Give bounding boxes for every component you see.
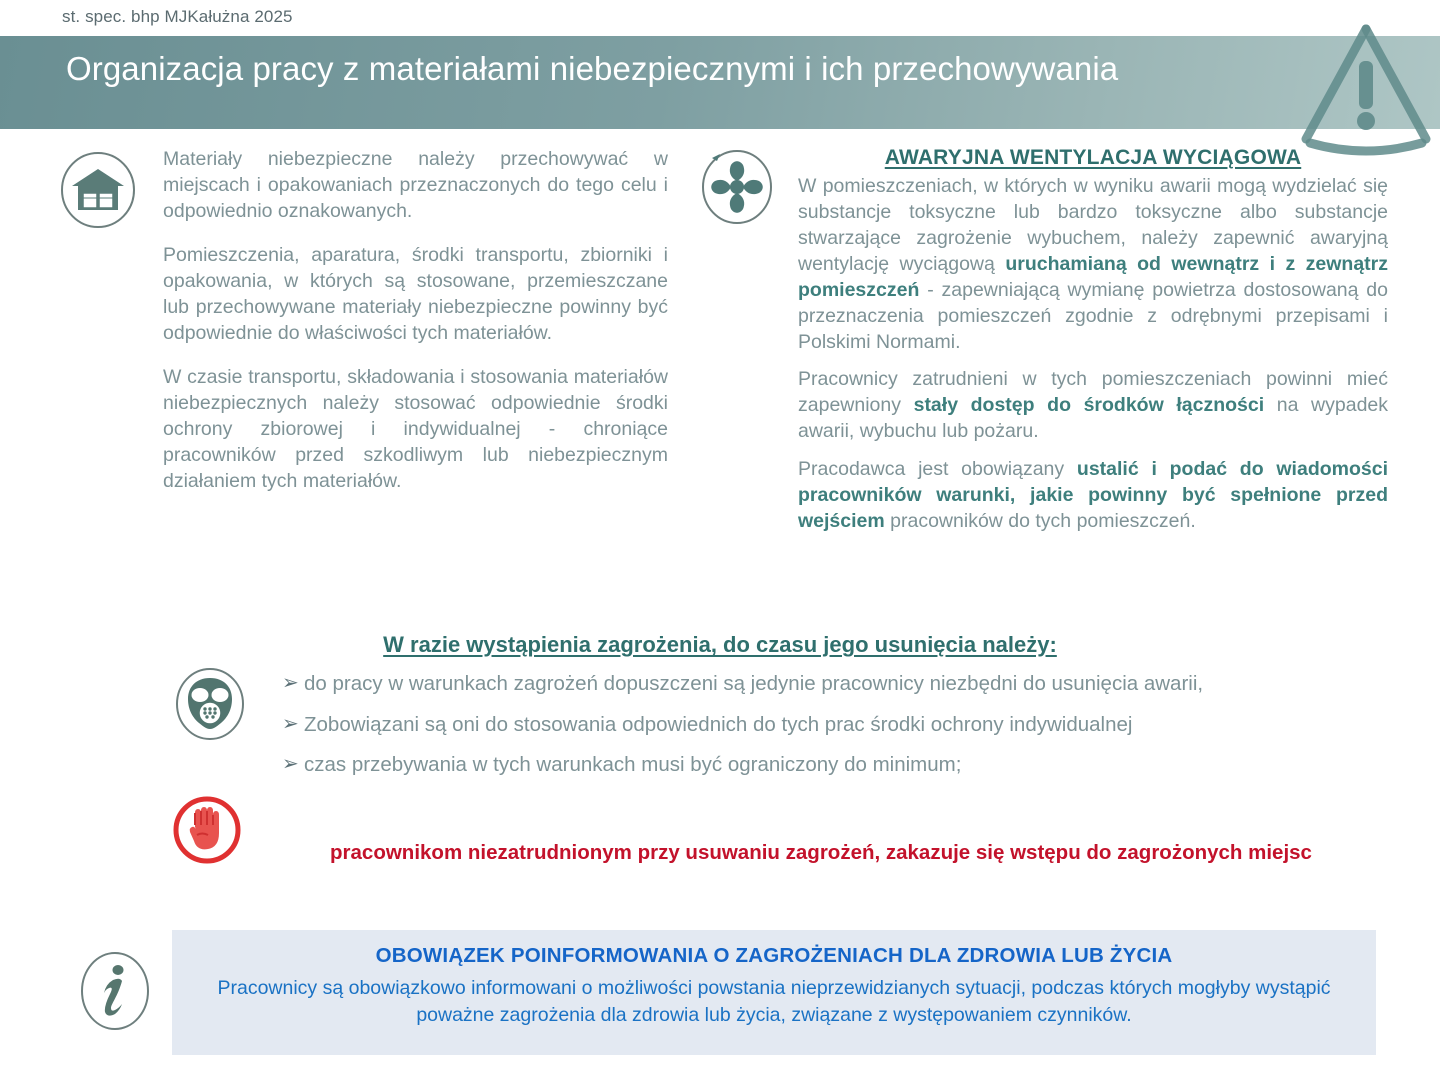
bullet-text-2: Zobowiązani są oni do stosowania odpowie…: [304, 711, 1360, 739]
list-item: ➢ czas przebywania w tych warunkach musi…: [282, 751, 1360, 779]
bullet-text-1: do pracy w warunkach zagrożeń dopuszczen…: [304, 670, 1360, 698]
red-warning-text: pracownikom niezatrudnionym przy usuwani…: [282, 839, 1360, 867]
left-column-body: Materiały niebezpieczne należy przechowy…: [163, 146, 668, 495]
bullet-marker-icon: ➢: [282, 670, 304, 697]
left-paragraph-1: Materiały niebezpieczne należy przechowy…: [163, 146, 668, 225]
stop-hand-icon: [168, 791, 246, 869]
gas-mask-icon: [172, 666, 248, 742]
bullet-list: ➢ do pracy w warunkach zagrożeń dopuszcz…: [282, 670, 1360, 792]
left-column: Materiały niebezpieczne należy przechowy…: [58, 146, 678, 512]
author-line: st. spec. bhp MJKałużna 2025: [62, 7, 293, 27]
list-item: ➢ do pracy w warunkach zagrożeń dopuszcz…: [282, 670, 1360, 698]
page-title: Organizacja pracy z materiałami niebezpi…: [66, 48, 1316, 89]
right-paragraph-3: Pracodawca jest obowiązany ustalić i pod…: [798, 457, 1388, 535]
left-paragraph-3: W czasie transportu, składowania i stoso…: [163, 364, 668, 495]
bullet-marker-icon: ➢: [282, 711, 304, 738]
right-paragraph-1: W pomieszczeniach, w których w wyniku aw…: [798, 174, 1388, 355]
middle-section-heading: W razie wystąpienia zagrożenia, do czasu…: [0, 632, 1440, 658]
ventilation-fan-icon: [698, 148, 776, 226]
info-icon: [74, 948, 156, 1034]
right-paragraph-2: Pracownicy zatrudnieni w tych pomieszcze…: [798, 367, 1388, 445]
right-column: AWARYJNA WENTYLACJA WYCIĄGOWA W pomieszc…: [698, 146, 1398, 547]
info-box: OBOWIĄZEK POINFORMOWANIA O ZAGROŻENIACH …: [172, 930, 1376, 1055]
bullet-marker-icon: ➢: [282, 751, 304, 778]
right-column-body: AWARYJNA WENTYLACJA WYCIĄGOWA W pomieszc…: [798, 146, 1388, 535]
list-item: ➢ Zobowiązani są oni do stosowania odpow…: [282, 711, 1360, 739]
info-box-text: Pracownicy są obowiązkowo informowani o …: [202, 975, 1346, 1028]
bullet-text-3: czas przebywania w tych warunkach musi b…: [304, 751, 1360, 779]
warehouse-icon: [58, 150, 138, 230]
left-paragraph-2: Pomieszczenia, aparatura, środki transpo…: [163, 242, 668, 347]
info-box-title: OBOWIĄZEK POINFORMOWANIA O ZAGROŻENIACH …: [172, 944, 1376, 968]
right-column-title: AWARYJNA WENTYLACJA WYCIĄGOWA: [798, 146, 1388, 170]
